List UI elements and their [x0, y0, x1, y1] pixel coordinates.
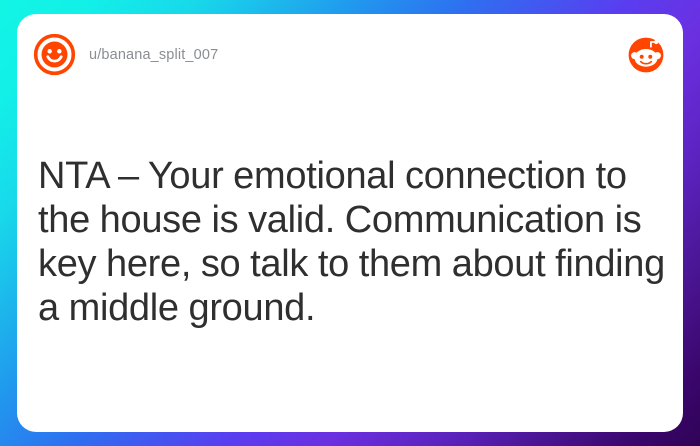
quote-body-text: NTA – Your emotional connection to the h… [38, 154, 668, 330]
author-block[interactable]: u/banana_split_007 [33, 33, 218, 76]
author-username: u/banana_split_007 [89, 47, 218, 63]
card-header: u/banana_split_007 [17, 14, 683, 98]
smiley-face-avatar-icon [33, 33, 76, 76]
quote-card: u/banana_split_007 NTA – Your emotional … [17, 14, 683, 432]
reddit-snoo-logo-icon[interactable] [627, 36, 665, 74]
gradient-backdrop: u/banana_split_007 NTA – Your emotional … [0, 0, 700, 446]
